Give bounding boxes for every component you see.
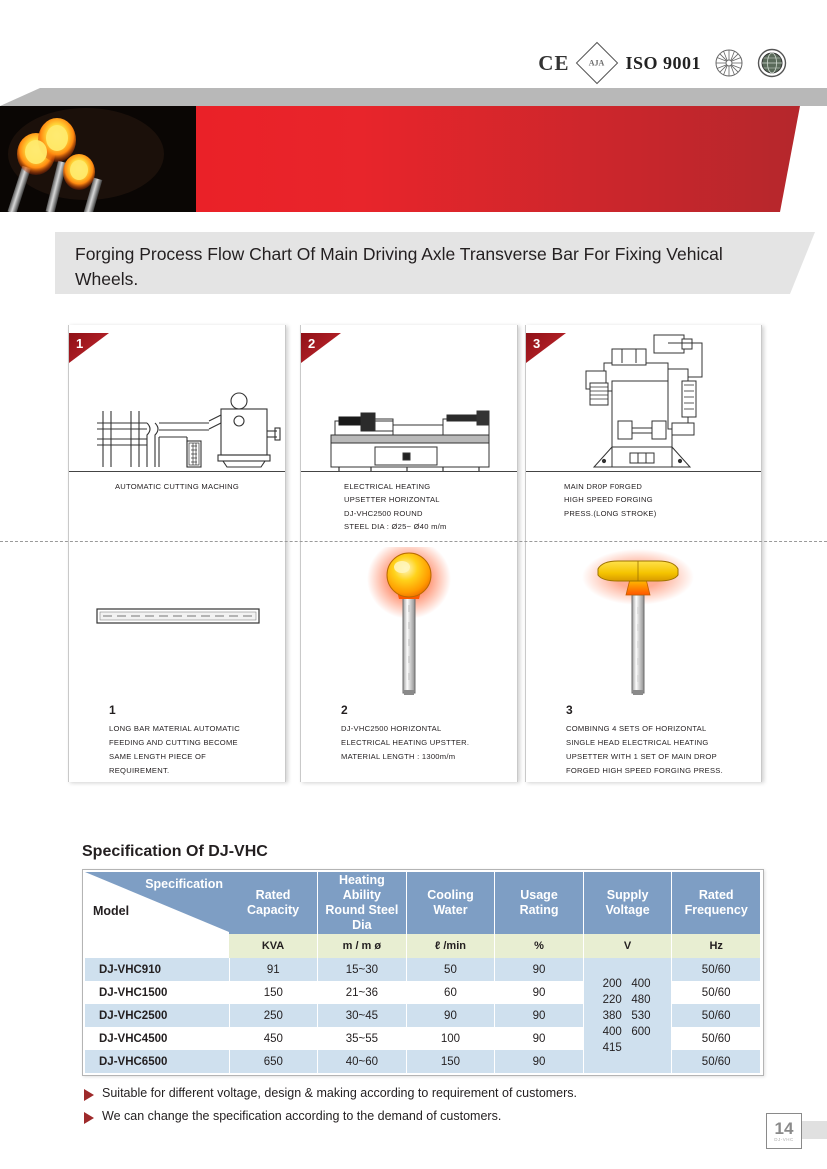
cell-rated-capacity: 650 — [229, 1050, 318, 1073]
page-number: 14 — [775, 1121, 794, 1137]
caption-line: DJ-VHC2500 HORIZONTAL — [341, 722, 521, 736]
header-line: Capacity — [230, 903, 316, 918]
unit-rated-frequency: Hz — [672, 934, 761, 958]
caption-line: PRESS.(LONG STROKE) — [564, 507, 799, 520]
cell-rated-capacity: 450 — [229, 1027, 318, 1050]
corner-model-label: Model — [93, 904, 129, 918]
banner-photo — [0, 106, 196, 212]
caption-line: ELECTRICAL HEATING UPSTTER. — [341, 736, 521, 750]
notes-list: Suitable for different voltage, design &… — [84, 1086, 744, 1132]
cell-usage-rating: 90 — [495, 981, 584, 1004]
aja-diamond-label: AJA — [590, 59, 606, 68]
cell-model: DJ-VHC910 — [85, 958, 229, 981]
cell-frequency: 50/60 — [672, 1027, 761, 1050]
cell-frequency: 50/60 — [672, 1050, 761, 1073]
header-line: Usage — [496, 888, 582, 903]
panel-2-machine-caption: ELECTRICAL HEATING UPSETTER HORIZONTAL D… — [301, 480, 560, 534]
cell-heating-dia: 15~30 — [318, 958, 407, 981]
cell-usage-rating: 90 — [495, 1004, 584, 1027]
panel-1-product-number: 1 — [109, 703, 289, 717]
caption-line: SAME LENGTH PIECE OF — [109, 750, 289, 764]
process-panel-2: 2 — [300, 325, 518, 782]
table-row: DJ-VHC910 91 15~30 50 90 200 400 220 480… — [85, 958, 761, 981]
header-line: Rating — [496, 903, 582, 918]
sunburst-icon — [714, 48, 744, 78]
caption-line: UPSETTER WITH 1 SET OF MAIN DROP — [566, 750, 746, 764]
panel-2-product-number: 2 — [341, 703, 521, 717]
voltage-value: 200 — [598, 978, 627, 990]
cell-rated-capacity: 150 — [229, 981, 318, 1004]
process-flow-panels: 1 — [68, 325, 760, 782]
cell-heating-dia: 40~60 — [318, 1050, 407, 1073]
voltage-value: 380 — [598, 1010, 627, 1022]
header-line: Frequency — [673, 903, 759, 918]
voltage-value: 220 — [598, 994, 627, 1006]
caption-line: HIGH SPEED FORGING — [564, 493, 799, 506]
triangle-bullet-icon — [84, 1112, 94, 1124]
page-banner — [0, 88, 827, 224]
horizontal-upsetter-icon — [301, 325, 517, 471]
page-number-box: 14 DJ-VHC — [766, 1113, 802, 1149]
caption-line: FORGED HIGH SPEED FORGING PRESS. — [566, 764, 746, 778]
t-head-forged-part-icon — [526, 547, 761, 702]
panel-2-product-caption: 2 DJ-VHC2500 HORIZONTAL ELECTRICAL HEATI… — [341, 703, 521, 764]
cell-heating-dia: 21~36 — [318, 981, 407, 1004]
panel-3-machine-caption: MAIN DR0P F0RGED HIGH SPEED FORGING PRES… — [526, 480, 799, 520]
cell-usage-rating: 90 — [495, 1050, 584, 1073]
cell-usage-rating: 90 — [495, 958, 584, 981]
spec-table-title: Specification Of DJ-VHC — [82, 843, 268, 861]
certification-bar: CE AJA ISO 9001 — [0, 0, 827, 88]
panel-2-product-lines: DJ-VHC2500 HORIZONTAL ELECTRICAL HEATING… — [341, 722, 521, 764]
caption-line: REQUIREMENT. — [109, 764, 289, 778]
header-cooling-water: Cooling Water — [406, 872, 495, 934]
cell-rated-capacity: 250 — [229, 1004, 318, 1027]
panel-3-product-number: 3 — [566, 703, 746, 717]
caption-line: AUTOMATIC CUTTING MACHING — [69, 480, 285, 493]
cell-cooling-water: 100 — [406, 1027, 495, 1050]
certification-logos: CE AJA ISO 9001 — [538, 48, 787, 78]
unit-heating-ability: m / m ø — [318, 934, 407, 958]
panel-1-product-caption: 1 LONG BAR MATERIAL AUTOMATIC FEEDING AN… — [109, 703, 289, 778]
cell-frequency: 50/60 — [672, 981, 761, 1004]
cell-cooling-water: 150 — [406, 1050, 495, 1073]
header-heating-ability: Heating Ability Round Steel Dia — [318, 872, 407, 934]
panel-3-divider — [526, 471, 761, 472]
header-line: Supply — [585, 888, 671, 903]
caption-line: MATERIAL LENGTH : 1300m/m — [341, 750, 521, 764]
panels-dashed-divider — [0, 541, 827, 542]
process-panel-3: 3 — [525, 325, 762, 782]
process-panel-1: 1 — [68, 325, 286, 782]
header-line: Cooling — [408, 888, 494, 903]
voltage-value: 600 — [627, 1026, 656, 1038]
voltage-value: 480 — [627, 994, 656, 1006]
long-bar-icon — [69, 547, 285, 702]
caption-line: MAIN DR0P F0RGED — [564, 480, 799, 493]
panel-1-divider — [69, 471, 285, 472]
page-title-text: Forging Process Flow Chart Of Main Drivi… — [75, 242, 765, 292]
spec-table-header-row: Specification Model Rated Capacity Heati… — [85, 872, 761, 934]
panel-3-product-caption: 3 COMBINNG 4 SETS OF HORIZONTAL SINGLE H… — [566, 703, 746, 778]
iso-9001-label: ISO 9001 — [625, 53, 701, 74]
aja-diamond-icon: AJA — [576, 42, 618, 84]
voltage-value: 400 — [627, 978, 656, 990]
caption-line: COMBINNG 4 SETS OF HORIZONTAL — [566, 722, 746, 736]
note-item: We can change the specification accordin… — [84, 1109, 744, 1124]
caption-line: LONG BAR MATERIAL AUTOMATIC — [109, 722, 289, 736]
header-rated-frequency: Rated Frequency — [672, 872, 761, 934]
header-line: Rated — [230, 888, 316, 903]
ce-mark-icon: CE — [538, 51, 569, 76]
cell-model: DJ-VHC4500 — [85, 1027, 229, 1050]
header-line: Water — [408, 903, 494, 918]
voltage-value: 415 — [598, 1042, 627, 1054]
header-line: Rated — [673, 888, 759, 903]
voltage-value — [627, 1042, 656, 1054]
spec-table-wrapper: Specification Model Rated Capacity Heati… — [82, 869, 764, 1076]
banner-gray-strip — [0, 88, 827, 106]
cell-model: DJ-VHC2500 — [85, 1004, 229, 1027]
corner-specification-label: Specification — [145, 877, 223, 891]
page-number-sub: DJ-VHC — [774, 1137, 794, 1142]
page-number-tail — [800, 1121, 827, 1139]
cell-model: DJ-VHC6500 — [85, 1050, 229, 1073]
header-rated-capacity: Rated Capacity — [229, 872, 318, 934]
caption-line: FEEDING AND CUTTING BECOME — [109, 736, 289, 750]
cell-cooling-water: 60 — [406, 981, 495, 1004]
header-line: Round Steel Dia — [319, 903, 405, 933]
header-supply-voltage: Supply Voltage — [583, 872, 672, 934]
panel-3-product-lines: COMBINNG 4 SETS OF HORIZONTAL SINGLE HEA… — [566, 722, 746, 778]
cell-cooling-water: 50 — [406, 958, 495, 981]
forging-press-icon — [526, 325, 761, 471]
cell-supply-voltage: 200 400 220 480 380 530 400 600 415 — [583, 958, 672, 1073]
supply-voltage-grid: 200 400 220 480 380 530 400 600 415 — [584, 974, 672, 1058]
triangle-bullet-icon — [84, 1089, 94, 1101]
header-usage-rating: Usage Rating — [495, 872, 584, 934]
unit-usage-rating: % — [495, 934, 584, 958]
unit-cooling-water: ℓ /min — [406, 934, 495, 958]
glowing-ball-billet-icon — [301, 547, 517, 702]
cell-frequency: 50/60 — [672, 958, 761, 981]
header-line: Heating Ability — [319, 873, 405, 903]
note-item: Suitable for different voltage, design &… — [84, 1086, 744, 1101]
cell-frequency: 50/60 — [672, 1004, 761, 1027]
panel-1-product-lines: LONG BAR MATERIAL AUTOMATIC FEEDING AND … — [109, 722, 289, 778]
note-text: We can change the specification accordin… — [102, 1109, 501, 1123]
voltage-value: 400 — [598, 1026, 627, 1038]
page-title: Forging Process Flow Chart Of Main Drivi… — [55, 232, 815, 294]
cell-model: DJ-VHC1500 — [85, 981, 229, 1004]
note-text: Suitable for different voltage, design &… — [102, 1086, 577, 1100]
caption-line: SINGLE HEAD ELECTRICAL HEATING — [566, 736, 746, 750]
cell-heating-dia: 30~45 — [318, 1004, 407, 1027]
cutting-machine-icon — [69, 325, 285, 471]
globe-icon — [757, 48, 787, 78]
voltage-value: 530 — [627, 1010, 656, 1022]
cell-usage-rating: 90 — [495, 1027, 584, 1050]
spec-table-corner-cell: Specification Model — [85, 872, 229, 958]
panel-2-divider — [301, 471, 517, 472]
cell-heating-dia: 35~55 — [318, 1027, 407, 1050]
cell-rated-capacity: 91 — [229, 958, 318, 981]
panel-1-machine-caption: AUTOMATIC CUTTING MACHING — [69, 480, 285, 493]
unit-supply-voltage: V — [583, 934, 672, 958]
unit-rated-capacity: KVA — [229, 934, 318, 958]
header-line: Voltage — [585, 903, 671, 918]
cell-cooling-water: 90 — [406, 1004, 495, 1027]
spec-table: Specification Model Rated Capacity Heati… — [85, 872, 761, 1073]
